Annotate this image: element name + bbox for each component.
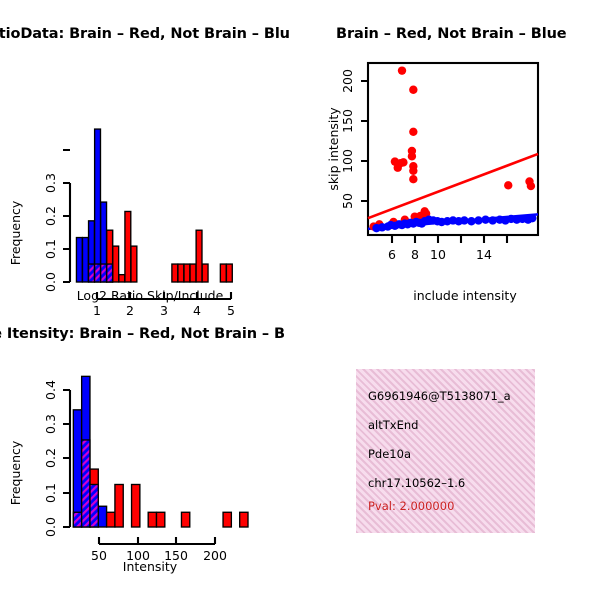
histogram-bar bbox=[184, 264, 190, 282]
histogram-bar bbox=[101, 264, 107, 282]
hist-ratio-ytick-2: 0.2 bbox=[43, 206, 58, 226]
histogram-bar bbox=[82, 238, 88, 282]
hist-ratio-yaxis bbox=[63, 150, 70, 282]
scatter-title: Brain – Red, Not Brain – Blue bbox=[336, 26, 567, 42]
scatter-xaxis-ticks bbox=[392, 235, 507, 243]
histogram-bar bbox=[125, 211, 131, 282]
histogram-bar bbox=[73, 410, 81, 527]
scatter-point bbox=[467, 217, 475, 225]
histogram-bar bbox=[90, 484, 98, 527]
histogram-bar bbox=[148, 512, 156, 527]
scatter-point bbox=[408, 152, 416, 160]
hist-ratio-ytick-3: 0.3 bbox=[43, 173, 58, 193]
scatter-point bbox=[481, 216, 489, 224]
scatter-point bbox=[409, 86, 417, 94]
scatter-ylabel: skip intensity bbox=[326, 107, 341, 191]
histogram-bar bbox=[178, 264, 184, 282]
gene-info-event-type: altTxEnd bbox=[368, 418, 418, 432]
histogram-bar bbox=[226, 264, 232, 282]
scatter-xtick-6: 6 bbox=[388, 247, 396, 262]
scatter-ytick-150: 150 bbox=[340, 109, 355, 133]
scatter-point bbox=[409, 175, 417, 183]
scatter-point bbox=[504, 181, 512, 189]
scatter-ytick-200: 200 bbox=[340, 69, 355, 93]
hist-ratio-xtick-5: 5 bbox=[227, 303, 235, 318]
hist-ratio-panel: 0.0 0.1 0.2 0.3 1 2 3 4 5 bbox=[0, 55, 300, 305]
scatter-xtick-14: 14 bbox=[476, 247, 492, 262]
histogram-bar bbox=[107, 512, 115, 527]
histogram-bar bbox=[202, 264, 208, 282]
hist-intensity-yaxis bbox=[63, 390, 70, 527]
histogram-bar bbox=[223, 512, 231, 527]
histogram-bar bbox=[157, 512, 165, 527]
histogram-bar bbox=[220, 264, 226, 282]
scatter-point bbox=[527, 182, 535, 190]
hist-ratio-svg: 0.0 0.1 0.2 0.3 1 2 3 4 5 bbox=[0, 55, 300, 305]
scatter-point bbox=[474, 216, 482, 224]
hist-ratio-xtick-1: 1 bbox=[93, 303, 101, 318]
histogram-bar bbox=[172, 264, 178, 282]
gene-info-pval: Pval: 2.000000 bbox=[368, 499, 454, 513]
gene-info-id: G6961946@T5138071_a bbox=[368, 389, 511, 403]
hist-intensity-ytick-2: 0.2 bbox=[43, 448, 58, 468]
gene-info-locus: chr17.10562–1.6 bbox=[368, 476, 465, 490]
histogram-bar bbox=[190, 264, 196, 282]
hist-intensity-ytick-0: 0.0 bbox=[43, 517, 58, 537]
scatter-xtick-10: 10 bbox=[430, 247, 446, 262]
histogram-bar bbox=[240, 512, 248, 527]
hist-intensity-ytick-4: 0.4 bbox=[43, 380, 58, 400]
scatter-xtick-8: 8 bbox=[411, 247, 419, 262]
hist-ratio-xtick-3: 3 bbox=[160, 303, 168, 318]
gene-info-gene-symbol: Pde10a bbox=[368, 447, 411, 461]
hist-intensity-bars bbox=[73, 376, 248, 527]
hist-ratio-xtick-4: 4 bbox=[193, 303, 201, 318]
histogram-bar bbox=[89, 264, 95, 282]
histogram-bar bbox=[107, 264, 113, 282]
scatter-point bbox=[460, 216, 468, 224]
histogram-bar bbox=[131, 246, 137, 282]
hist-ratio-xtick-2: 2 bbox=[126, 303, 134, 318]
histogram-bar bbox=[76, 238, 82, 282]
hist-intensity-ytick-3: 0.3 bbox=[43, 414, 58, 434]
histogram-bar bbox=[98, 506, 106, 527]
scatter-svg: 50 100 150 200 6 8 10 14 skip intensity bbox=[330, 55, 600, 305]
histogram-bar bbox=[115, 484, 123, 527]
scatter-point bbox=[409, 167, 417, 175]
hist-intensity-ylabel: Frequency bbox=[8, 440, 23, 505]
scatter-point bbox=[409, 128, 417, 136]
histogram-bar bbox=[82, 440, 90, 527]
histogram-bar bbox=[95, 264, 101, 282]
histogram-bar bbox=[113, 246, 119, 282]
histogram-bar bbox=[132, 484, 140, 527]
scatter-point bbox=[528, 214, 536, 222]
scatter-ytick-100: 100 bbox=[340, 149, 355, 173]
hist-intensity-xaxis bbox=[99, 537, 215, 544]
hist-intensity-xlabel: Intensity bbox=[123, 559, 177, 574]
scatter-point bbox=[488, 216, 496, 224]
gene-info-panel: G6961946@T5138071_a altTxEnd Pde10a chr1… bbox=[356, 369, 535, 533]
hist-intensity-title: ne Itensity: Brain – Red, Not Brain – B bbox=[0, 326, 285, 342]
histogram-bar bbox=[181, 512, 189, 527]
hist-ratio-xlabel: Log2 Ratio Skip/Include bbox=[77, 288, 224, 303]
scatter-xlabel: include intensity bbox=[413, 288, 516, 303]
hist-ratio-ytick-1: 0.1 bbox=[43, 239, 58, 259]
scatter-ytick-50: 50 bbox=[340, 193, 355, 209]
histogram-bar bbox=[73, 512, 81, 527]
histogram-bar bbox=[196, 230, 202, 282]
scatter-panel: 50 100 150 200 6 8 10 14 skip intensity bbox=[330, 55, 600, 305]
histogram-bar bbox=[95, 129, 101, 282]
hist-intensity-ytick-1: 0.1 bbox=[43, 483, 58, 503]
hist-ratio-bars bbox=[76, 129, 232, 282]
scatter-point bbox=[394, 164, 402, 172]
histogram-bar bbox=[119, 275, 125, 282]
hist-ratio-title: RatioData: Brain – Red, Not Brain – Blu bbox=[0, 26, 290, 42]
scatter-point bbox=[398, 66, 406, 74]
